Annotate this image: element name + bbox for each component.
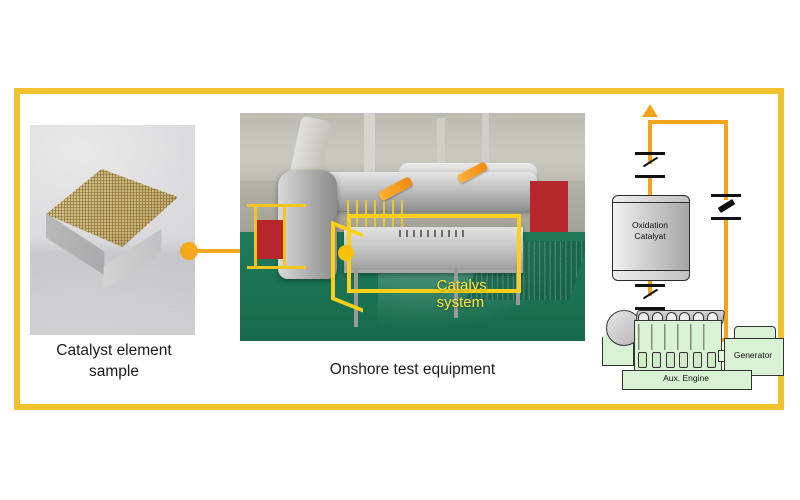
catalyst-sample-caption: Catalyst element sample [14, 341, 214, 383]
catalyst-sample-panel [30, 125, 195, 335]
engine-port [679, 352, 688, 368]
catalyst-sample-caption-line1: Catalyst element [14, 341, 214, 362]
engine-port [652, 352, 661, 368]
figure-canvas: Catalyst element sample C [0, 0, 800, 500]
generator-label: Generator [724, 350, 782, 360]
catalyst-sample-photo [30, 125, 195, 335]
valve-flapper [718, 199, 736, 213]
aux-engine-label: Aux. Engine [622, 373, 750, 383]
onshore-test-photo: Catalys system [240, 113, 585, 341]
engine-port [707, 352, 716, 368]
onshore-test-caption: Onshore test equipment [250, 360, 575, 381]
red-equipment-right [530, 181, 568, 231]
connector-dot [180, 242, 198, 260]
exhaust-outlet-arrow-icon [642, 104, 658, 117]
catalyst-inlet-valve-icon[interactable] [635, 284, 665, 310]
valve-flapper [643, 157, 658, 168]
vessel-label-line2: Catalyat [612, 231, 688, 242]
bypass-top-line [648, 120, 728, 124]
catalyst-system-label-line2: system [437, 294, 487, 311]
valve-flapper [643, 289, 658, 300]
honeycomb-block [46, 169, 178, 287]
oxidation-catalyst-label: Oxidation Catalyat [612, 220, 688, 243]
overhead-pipe-c [482, 113, 490, 168]
engine-port [666, 352, 675, 368]
overhead-pipe-b [437, 118, 445, 168]
overhead-pipe-a [364, 113, 374, 172]
engine-port-row [638, 352, 716, 366]
bypass-valve-icon[interactable] [711, 194, 741, 220]
catalyst-system-label-line1: Catalys [437, 277, 487, 294]
engine-port [638, 352, 647, 368]
catalyst-outlet-valve-icon[interactable] [635, 152, 665, 178]
highlight-box [347, 214, 521, 293]
bypass-right-line-upper [724, 120, 728, 200]
yellow-railing [247, 204, 306, 269]
bypass-right-line-lower [724, 218, 728, 342]
exhaust-schematic: Oxidation Catalyat Generator Au [600, 98, 780, 398]
catalyst-sample-caption-line2: sample [14, 362, 214, 383]
vessel-bottom-cap [612, 270, 690, 281]
catalyst-system-label: Catalys system [437, 277, 487, 312]
vessel-label-line1: Oxidation [612, 220, 688, 231]
engine-port [693, 352, 702, 368]
engine-cylinder-dividers [638, 324, 716, 350]
